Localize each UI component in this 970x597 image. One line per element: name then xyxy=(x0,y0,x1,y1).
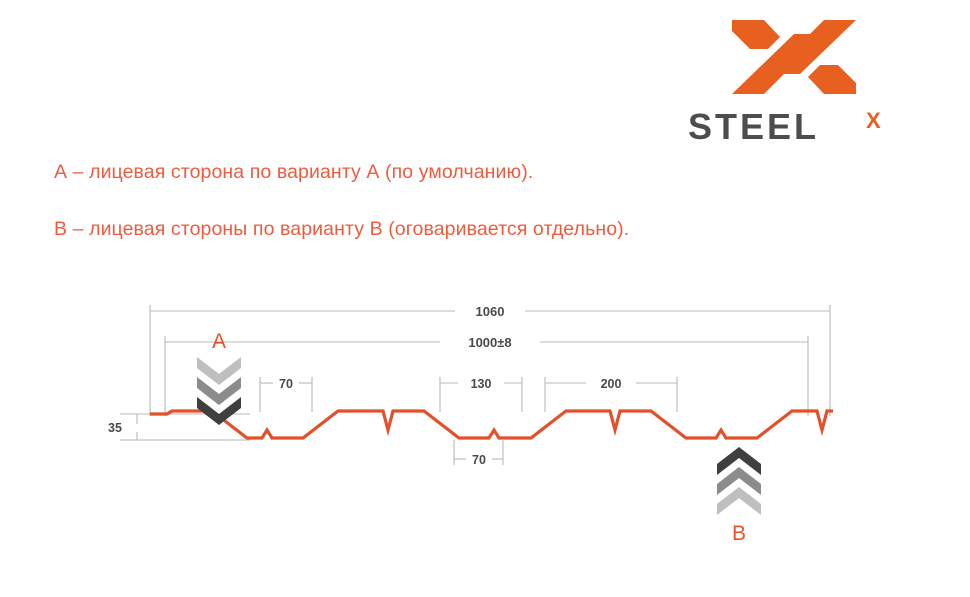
side-a-letter: A xyxy=(212,330,226,353)
dimension-label-70-bottom: 70 xyxy=(472,453,486,467)
chevron-down-icon xyxy=(197,357,241,425)
dimension-label-1060: 1060 xyxy=(476,304,505,319)
side-b-letter: B xyxy=(732,522,746,545)
profile-technical-drawing: 1060 1000±8 70 130 200 70 35 A B xyxy=(0,0,970,597)
dimension-label-35: 35 xyxy=(108,421,122,435)
side-b-marker: B xyxy=(717,447,761,545)
side-a-marker: A xyxy=(197,330,241,425)
chevron-up-icon xyxy=(717,447,761,515)
dimension-label-70-top: 70 xyxy=(279,377,293,391)
dimension-label-200: 200 xyxy=(601,377,622,391)
dimension-label-130: 130 xyxy=(471,377,492,391)
sheet-profile-outline xyxy=(150,411,833,438)
dimension-label-1000: 1000±8 xyxy=(468,335,511,350)
